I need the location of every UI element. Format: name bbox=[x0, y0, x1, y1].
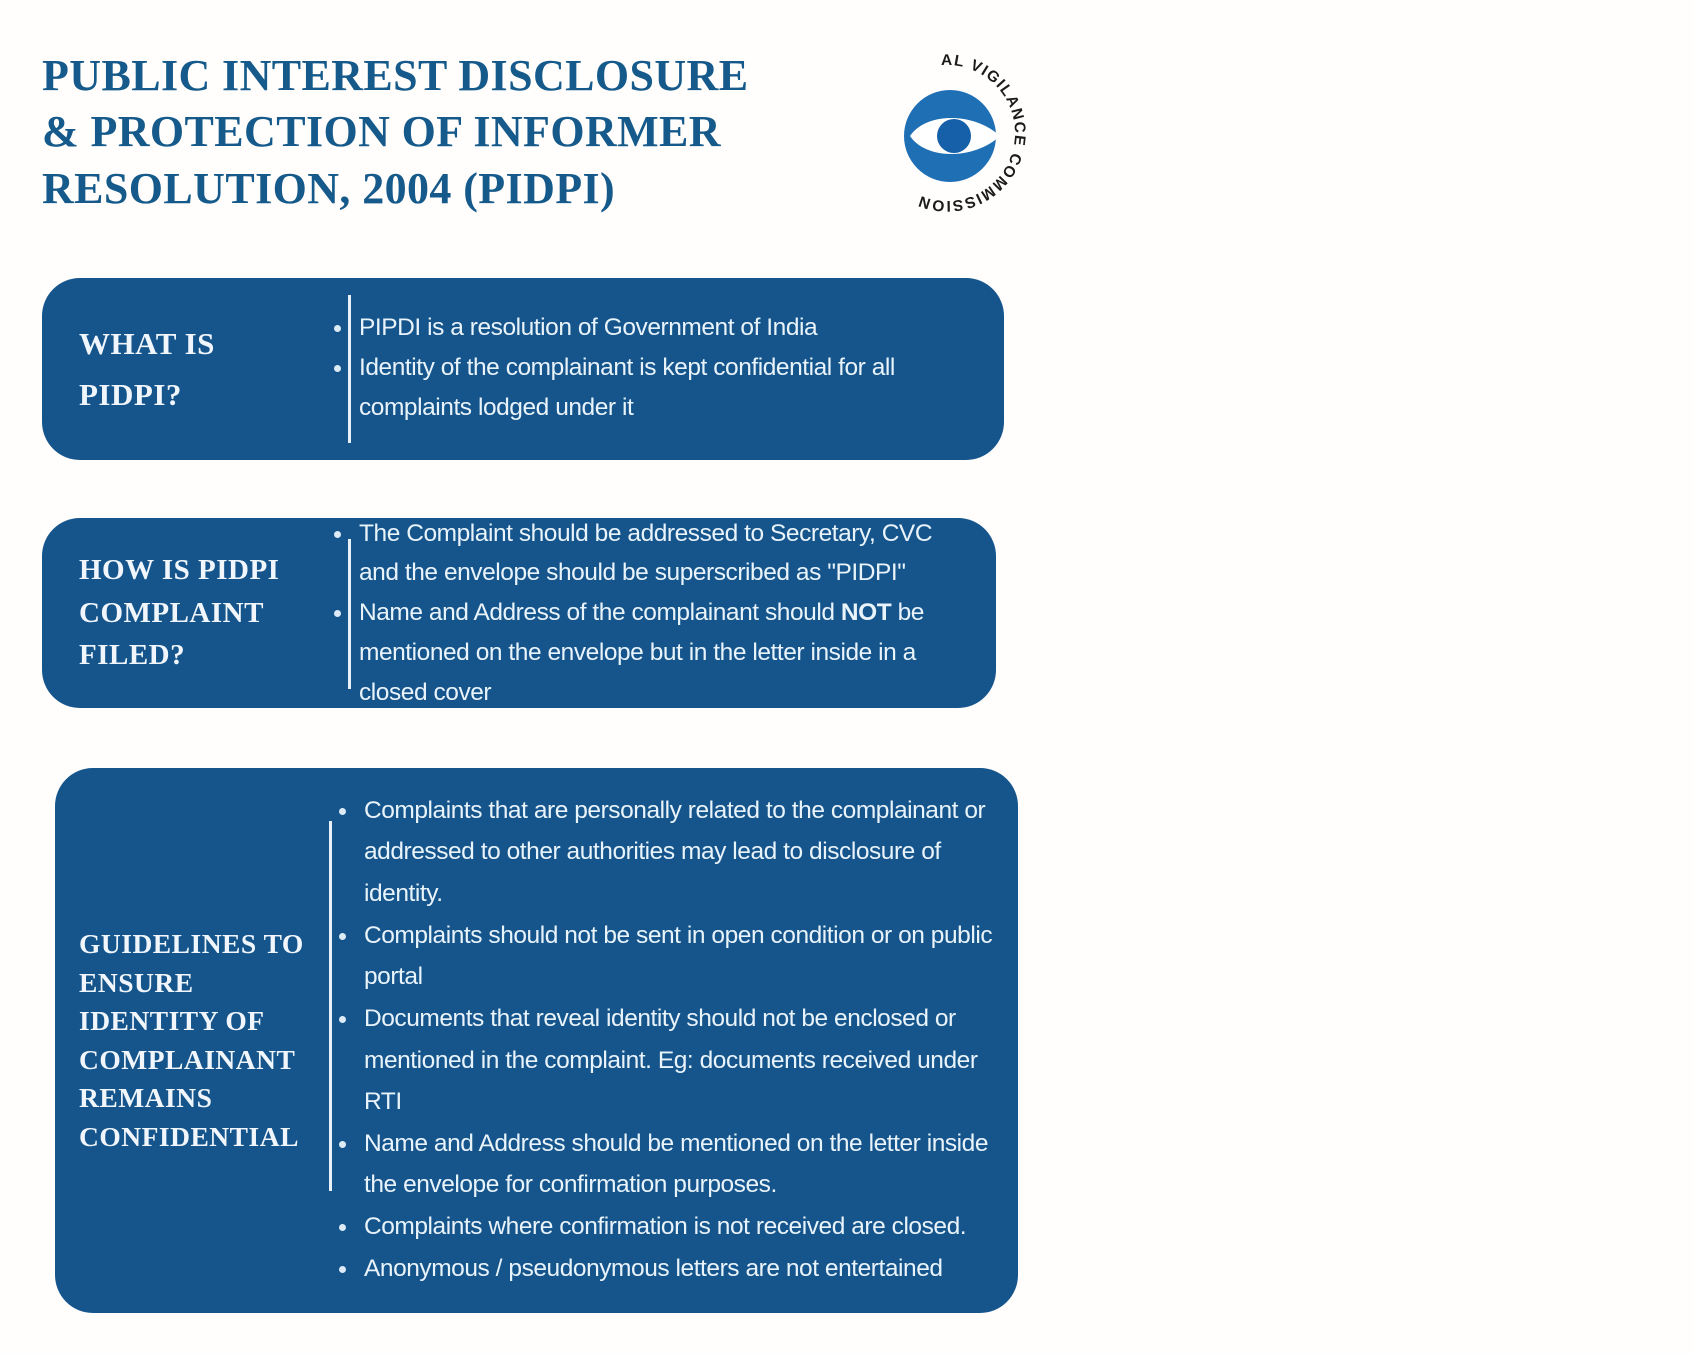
cvc-logo: CENTRAL VIGILANCE COMMISSION bbox=[866, 52, 1028, 214]
list-item-emphasis: NOT bbox=[841, 599, 891, 626]
card-label-line: GUIDELINES TO bbox=[79, 925, 303, 964]
page-title-line-2: & PROTECTION OF INFORMER bbox=[42, 104, 832, 160]
list-item: Complaints that are personally related t… bbox=[333, 790, 1006, 915]
list-item: Name and Address should be mentioned on … bbox=[333, 1123, 1006, 1206]
list-item: Documents that reveal identity should no… bbox=[333, 998, 1006, 1123]
list-item: Identity of the complainant is kept conf… bbox=[328, 348, 964, 427]
card-guidelines-label: GUIDELINES TO ENSURE IDENTITY OF COMPLAI… bbox=[55, 925, 303, 1156]
card-how-filed-label: HOW IS PIDPI COMPLAINT FILED? bbox=[42, 549, 292, 678]
card-label-line: COMPLAINANT bbox=[79, 1041, 303, 1080]
poster-page: PUBLIC INTEREST DISCLOSURE & PROTECTION … bbox=[0, 0, 1694, 1354]
page-title-line-3: RESOLUTION, 2004 (PIDPI) bbox=[42, 161, 832, 217]
page-header: PUBLIC INTEREST DISCLOSURE & PROTECTION … bbox=[0, 0, 1694, 250]
card-guidelines-confidentiality: GUIDELINES TO ENSURE IDENTITY OF COMPLAI… bbox=[55, 768, 1018, 1313]
card-label-line: REMAINS bbox=[79, 1079, 303, 1118]
list-item: Complaints should not be sent in open co… bbox=[333, 915, 1006, 998]
card-label-line: HOW IS PIDPI bbox=[79, 549, 292, 592]
card-label-line: IDENTITY OF bbox=[79, 1002, 303, 1041]
card-guidelines-bullets: Complaints that are personally related t… bbox=[303, 790, 1018, 1290]
card-label-line: PIDPI? bbox=[79, 369, 292, 420]
page-title-line-1: PUBLIC INTEREST DISCLOSURE bbox=[42, 48, 832, 104]
card-how-is-pidpi-complaint-filed: HOW IS PIDPI COMPLAINT FILED? The Compla… bbox=[42, 518, 996, 708]
card-label-line: ENSURE bbox=[79, 964, 303, 1003]
card-what-is-pidpi-label: WHAT IS PIDPI? bbox=[42, 318, 292, 420]
list-item: Name and Address of the complainant shou… bbox=[328, 593, 974, 712]
card-label-line: WHAT IS bbox=[79, 318, 292, 369]
list-item: The Complaint should be addressed to Sec… bbox=[328, 514, 974, 593]
card-label-line: FILED? bbox=[79, 634, 292, 677]
list-item: PIPDI is a resolution of Government of I… bbox=[328, 308, 964, 348]
list-item: Complaints where confirmation is not rec… bbox=[333, 1206, 1006, 1248]
list-item: Anonymous / pseudonymous letters are not… bbox=[333, 1248, 1006, 1290]
card-how-filed-bullets: The Complaint should be addressed to Sec… bbox=[292, 514, 996, 712]
card-what-is-pidpi: WHAT IS PIDPI? PIPDI is a resolution of … bbox=[42, 278, 1004, 460]
list-item-text-pre: Name and Address of the complainant shou… bbox=[359, 599, 841, 626]
card-label-line: CONFIDENTIAL bbox=[79, 1118, 303, 1157]
card-what-is-pidpi-bullets: PIPDI is a resolution of Government of I… bbox=[292, 308, 1004, 427]
card-divider bbox=[329, 821, 332, 1191]
page-title: PUBLIC INTEREST DISCLOSURE & PROTECTION … bbox=[42, 48, 832, 217]
card-label-line: COMPLAINT bbox=[79, 592, 292, 635]
